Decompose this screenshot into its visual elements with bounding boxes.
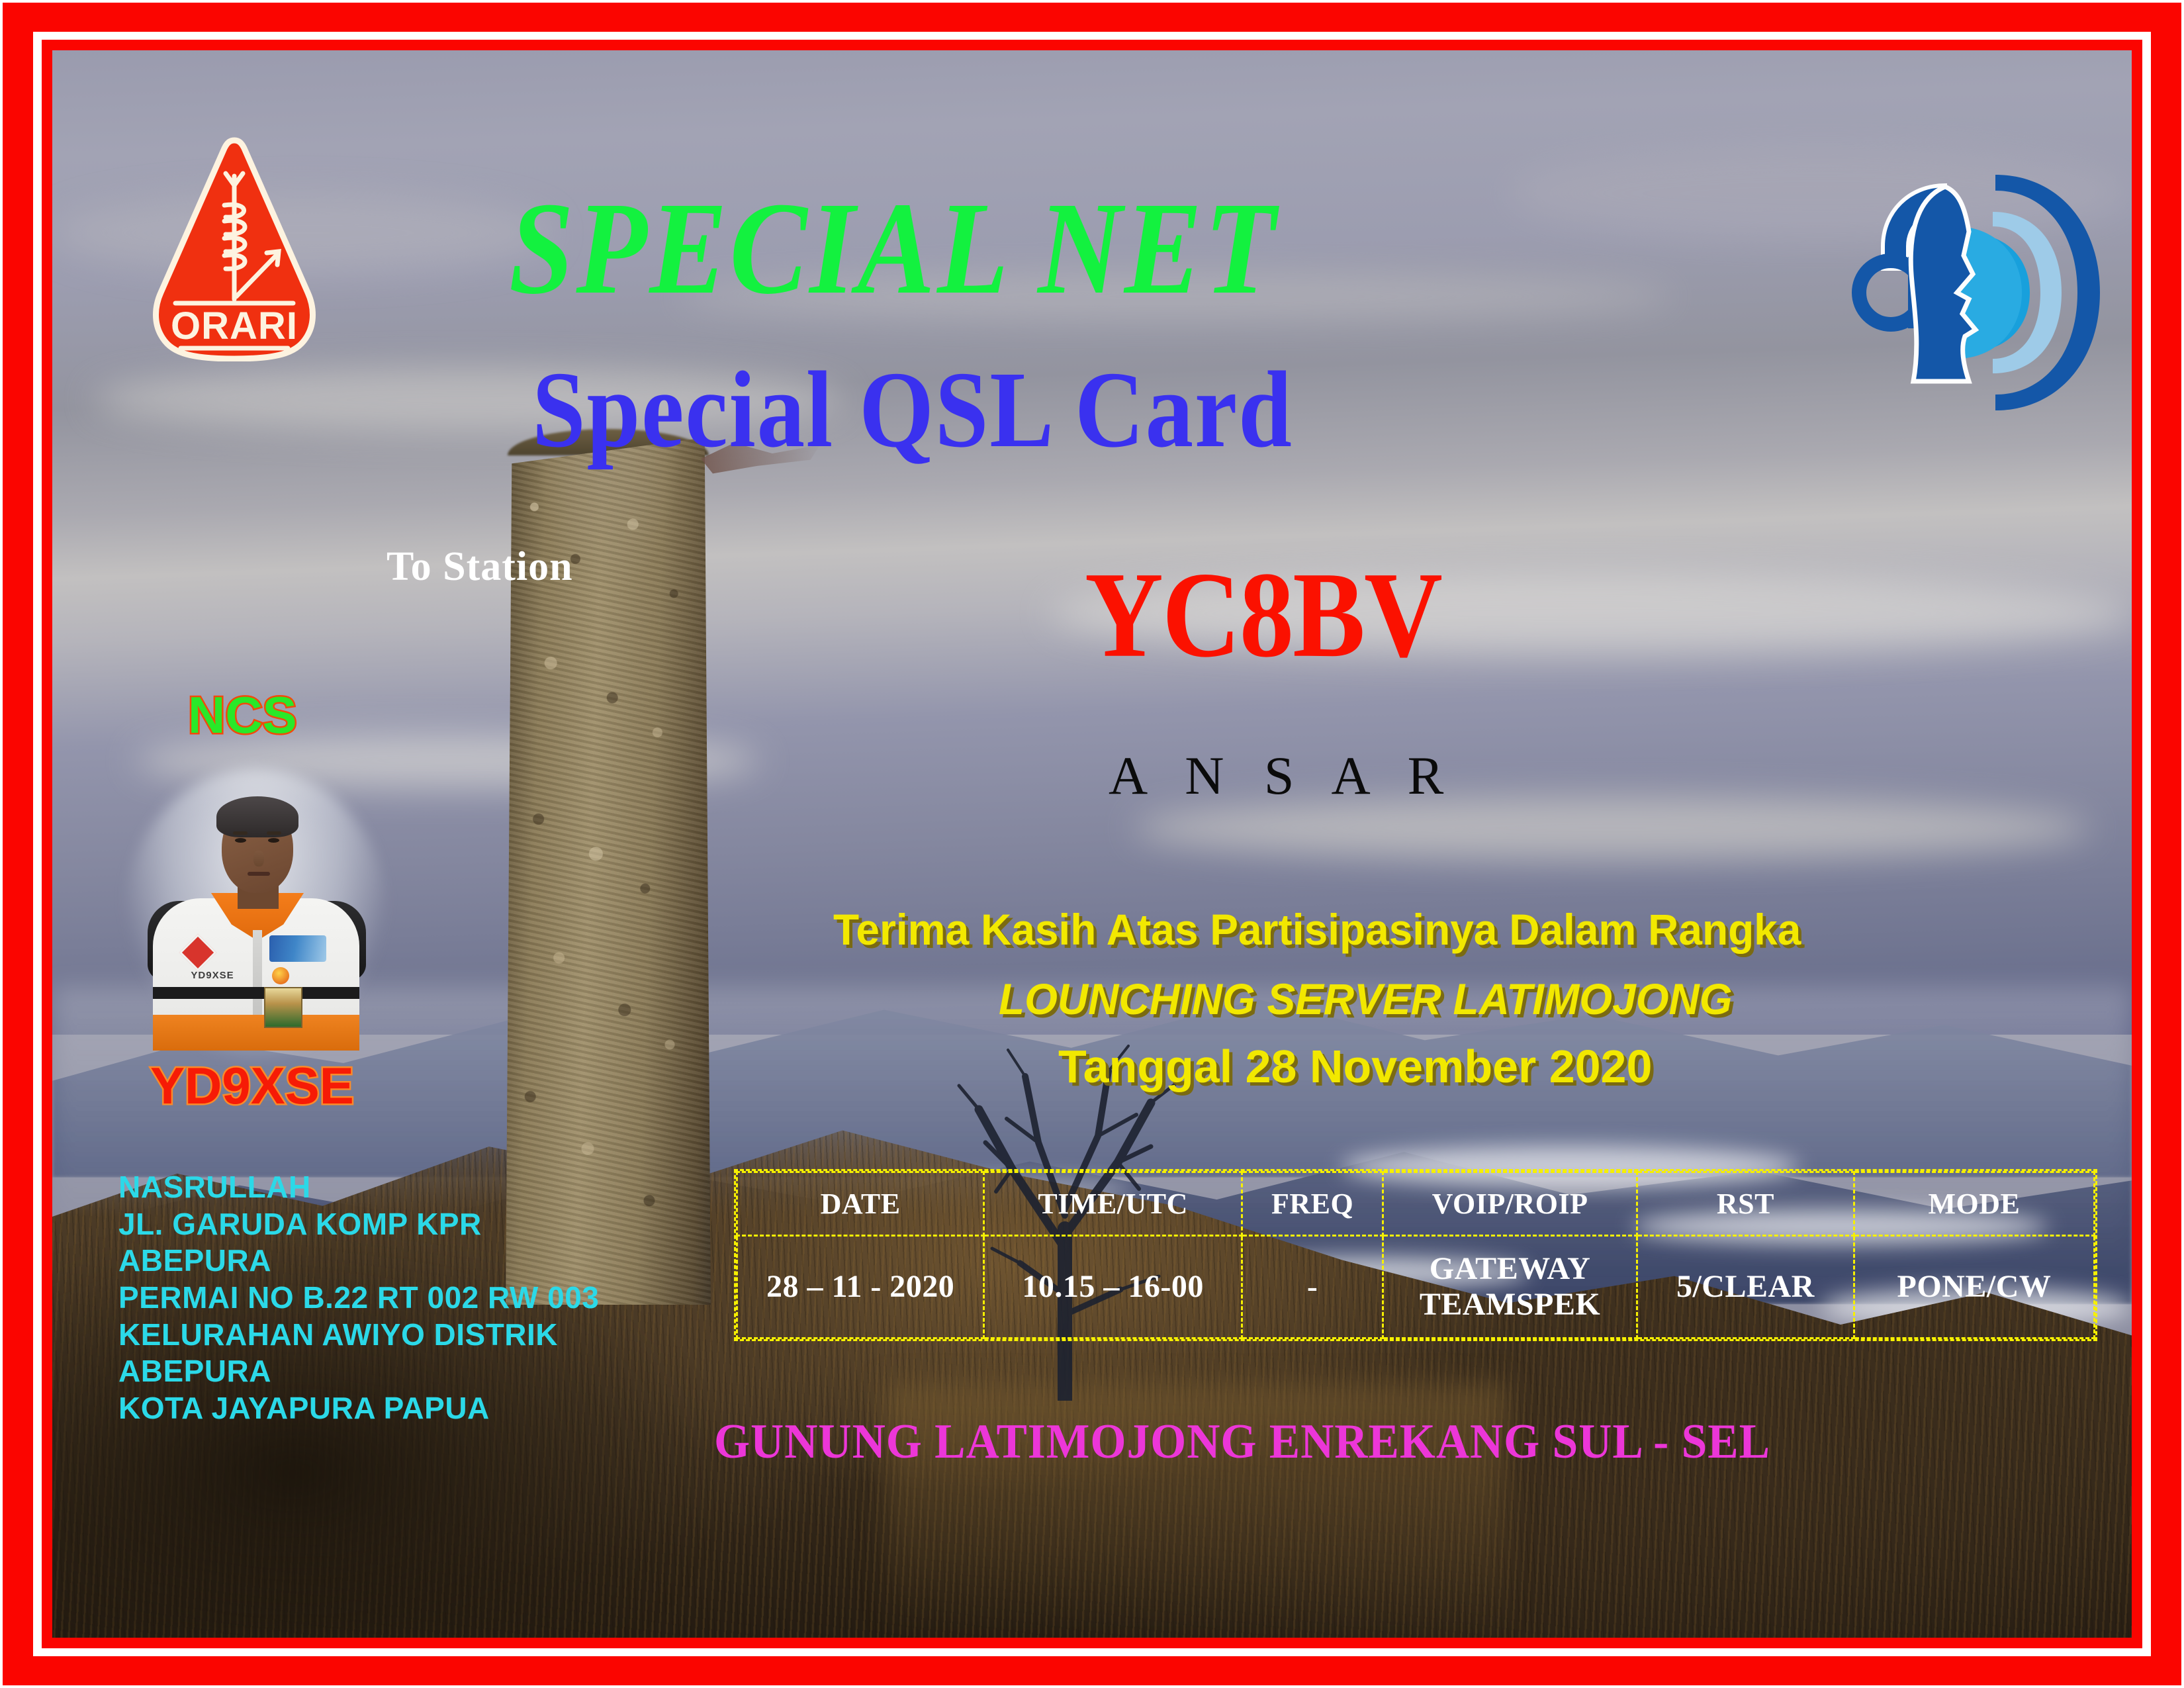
cell-voip-line2: TEAMSPEK: [1384, 1287, 1636, 1323]
portrait-eyebrow: [233, 831, 248, 835]
portrait-eyebrow: [267, 831, 281, 835]
portrait-lanyard-reel: [272, 967, 289, 984]
thanks-line-1: Terima Kasih Atas Partisipasinya Dalam R…: [833, 908, 1801, 951]
portrait-organization-patch: [269, 935, 326, 962]
to-station-label: To Station: [387, 543, 573, 590]
background-photograph: ORARI: [52, 50, 2132, 1638]
portrait-nose: [253, 851, 264, 867]
address-line: ABEPURA: [118, 1243, 599, 1280]
thanks-line-2: LOUNCHING SERVER LATIMOJONG: [999, 977, 1733, 1021]
portrait-eye: [268, 838, 279, 843]
column-header-rst: RST: [1637, 1172, 1854, 1236]
column-header-time: TIME/UTC: [984, 1172, 1242, 1236]
station-callsign: YC8BV: [1085, 553, 1441, 677]
address-line: NASRULLAH: [118, 1169, 599, 1206]
cell-freq: -: [1242, 1236, 1383, 1338]
column-header-freq: FREQ: [1242, 1172, 1383, 1236]
ncs-label: NCS: [188, 689, 297, 741]
orari-logo: ORARI: [152, 136, 317, 361]
cell-voip-line1: GATEWAY: [1384, 1251, 1636, 1287]
cell-mode: PONE/CW: [1854, 1236, 2094, 1338]
headphone-profile-logo: [1839, 163, 2104, 421]
portrait-id-card: [264, 987, 302, 1028]
portrait-orange-belt: [153, 1015, 359, 1051]
cloud-streak: [1134, 796, 2090, 860]
portrait-hair: [216, 796, 298, 837]
address-line: KELURAHAN AWIYO DISTRIK: [118, 1317, 599, 1354]
portrait-eye: [235, 838, 246, 843]
cell-date: 28 – 11 - 2020: [737, 1236, 984, 1338]
address-line: PERMAI NO B.22 RT 002 RW 003: [118, 1280, 599, 1317]
address-line: KOTA JAYAPURA PAPUA: [118, 1390, 599, 1427]
address-line: JL. GARUDA KOMP KPR: [118, 1206, 599, 1243]
qsl-card: ORARI: [0, 0, 2184, 1688]
cell-rst: 5/CLEAR: [1637, 1236, 1854, 1338]
table-header-row: DATE TIME/UTC FREQ VOIP/ROIP RST MODE: [737, 1172, 2095, 1236]
column-header-voip: VOIP/ROIP: [1383, 1172, 1637, 1236]
column-header-mode: MODE: [1854, 1172, 2094, 1236]
column-header-date: DATE: [737, 1172, 984, 1236]
portrait-shirt-stripe: [153, 987, 359, 999]
event-date-line: Tanggal 28 November 2020: [1058, 1043, 1652, 1090]
portrait-mouth: [248, 872, 270, 876]
page-title: SPECIAL NET: [509, 183, 1278, 315]
ncs-callsign: YD9XSE: [150, 1060, 354, 1111]
event-location-line: GUNUNG LATIMOJONG ENREKANG SUL - SEL: [714, 1417, 1770, 1466]
cell-voip: GATEWAY TEAMSPEK: [1383, 1236, 1637, 1338]
qso-log-table: DATE TIME/UTC FREQ VOIP/ROIP RST MODE 28…: [734, 1169, 2097, 1341]
orari-logo-text: ORARI: [171, 305, 298, 348]
ncs-operator-photo: YD9XSE: [125, 769, 387, 1060]
portrait-callsign-patch: YD9XSE: [173, 970, 252, 981]
table-row: 28 – 11 - 2020 10.15 – 16-00 - GATEWAY T…: [737, 1236, 2095, 1338]
address-line: ABEPURA: [118, 1353, 599, 1390]
mailing-address-block: NASRULLAH JL. GARUDA KOMP KPR ABEPURA PE…: [118, 1169, 599, 1427]
page-subtitle: Special QSL Card: [532, 355, 1293, 464]
cell-time: 10.15 – 16-00: [984, 1236, 1242, 1338]
operator-name: A N S A R: [1109, 749, 1457, 803]
